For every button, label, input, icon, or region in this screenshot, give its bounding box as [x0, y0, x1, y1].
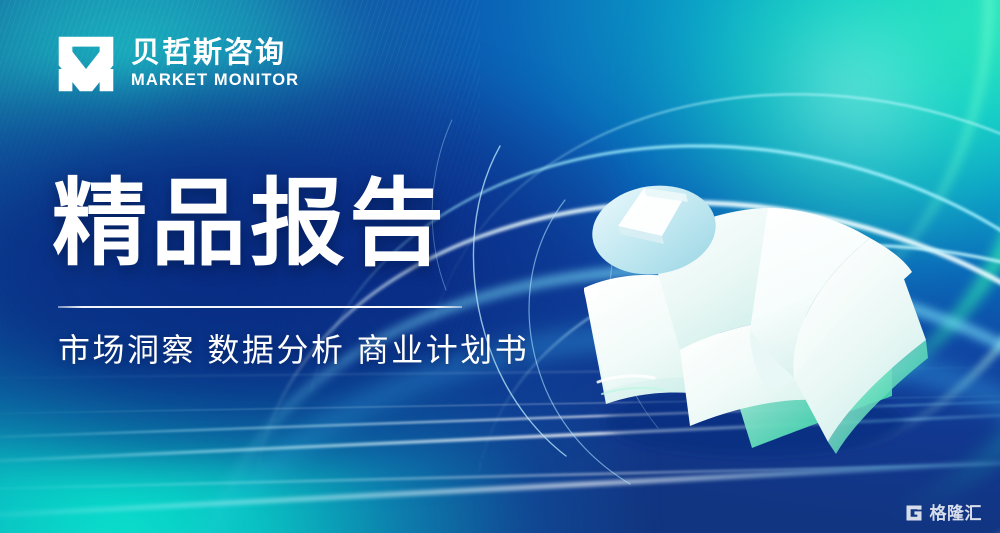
title-divider: [58, 306, 462, 308]
watermark-label: 格隆汇: [930, 505, 983, 522]
m-monogram-icon: [55, 33, 117, 95]
report-banner: 贝哲斯咨询 MARKET MONITOR 精品报告 市场洞察 数据分析 商业计划…: [0, 0, 1000, 533]
page-title: 精品报告: [52, 175, 448, 275]
gelonghui-g-icon: [904, 503, 924, 523]
open-book-illustration: [540, 150, 940, 470]
brand-logo: 贝哲斯咨询 MARKET MONITOR: [55, 33, 299, 95]
watermark: 格隆汇: [904, 503, 983, 523]
brand-name-cn: 贝哲斯咨询: [131, 39, 299, 68]
page-subtitle: 市场洞察 数据分析 商业计划书: [58, 330, 529, 372]
open-book-icon: [540, 150, 940, 470]
brand-logo-text: 贝哲斯咨询 MARKET MONITOR: [131, 39, 299, 89]
brand-name-en: MARKET MONITOR: [131, 72, 299, 89]
